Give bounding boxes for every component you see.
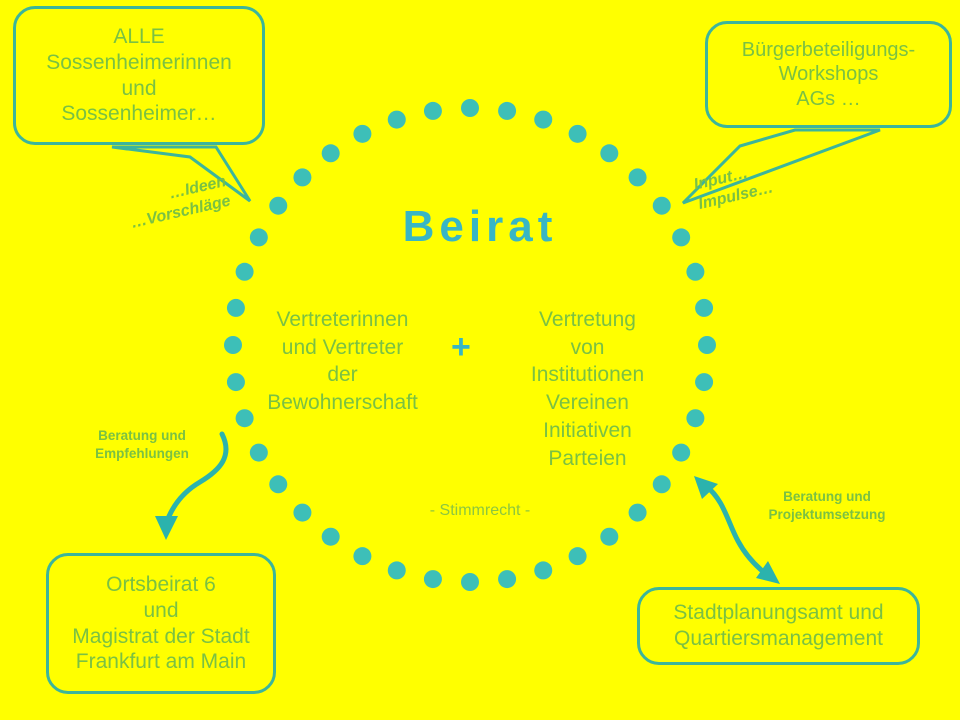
box-ortsbeirat-text: Ortsbeirat 6 und Magistrat der Stadt Fra…: [62, 572, 259, 674]
bubble-residents-text: ALLE Sossenheimerinnen und Sossenheimer…: [36, 24, 242, 126]
circle-dot: [322, 144, 340, 162]
circle-dot: [236, 263, 254, 281]
circle-dot: [686, 263, 704, 281]
circle-dot: [236, 409, 254, 427]
arrow-label-projektumsetzung: Beratung und Projektumsetzung: [742, 488, 912, 524]
bubble-residents: ALLE Sossenheimerinnen und Sossenheimer…: [13, 6, 265, 145]
circle-dot: [686, 409, 704, 427]
circle-dot: [353, 547, 371, 565]
circle-dot: [698, 336, 716, 354]
plus-icon: +: [451, 330, 471, 364]
circle-dot: [498, 570, 516, 588]
circle-dot: [534, 561, 552, 579]
circle-dot: [695, 373, 713, 391]
circle-dot: [461, 99, 479, 117]
circle-dot: [388, 111, 406, 129]
circle-dot: [388, 561, 406, 579]
circle-dot: [424, 102, 442, 120]
circle-dot: [461, 573, 479, 591]
circle-dot: [534, 111, 552, 129]
circle-dot: [569, 547, 587, 565]
circle-dot: [629, 168, 647, 186]
circle-dot: [353, 125, 371, 143]
circle-dot: [224, 336, 242, 354]
diagram-canvas: ALLE Sossenheimerinnen und Sossenheimer……: [0, 0, 960, 720]
box-stadtplanung: Stadtplanungsamt und Quartiersmanagement: [637, 587, 920, 665]
circle-dot: [498, 102, 516, 120]
circle-dot: [695, 299, 713, 317]
circle-dot: [569, 125, 587, 143]
column-institutionen: Vertretung von Institutionen Vereinen In…: [500, 306, 675, 472]
box-stadtplanung-text: Stadtplanungsamt und Quartiersmanagement: [663, 600, 893, 651]
box-ortsbeirat: Ortsbeirat 6 und Magistrat der Stadt Fra…: [46, 553, 276, 694]
bubble-workshops-text: Bürgerbeteiligungs- Workshops AGs …: [732, 38, 925, 111]
bubble-workshops: Bürgerbeteiligungs- Workshops AGs …: [705, 21, 952, 128]
column-bewohnerschaft: Vertreterinnen und Vertreter der Bewohne…: [255, 306, 430, 417]
circle-dot: [600, 528, 618, 546]
circle-dot: [322, 528, 340, 546]
circle-dot: [600, 144, 618, 162]
circle-dot: [424, 570, 442, 588]
circle-dot: [227, 373, 245, 391]
circle-dot: [293, 168, 311, 186]
circle-dot: [227, 299, 245, 317]
arrow-label-empfehlungen: Beratung und Empfehlungen: [72, 427, 212, 463]
